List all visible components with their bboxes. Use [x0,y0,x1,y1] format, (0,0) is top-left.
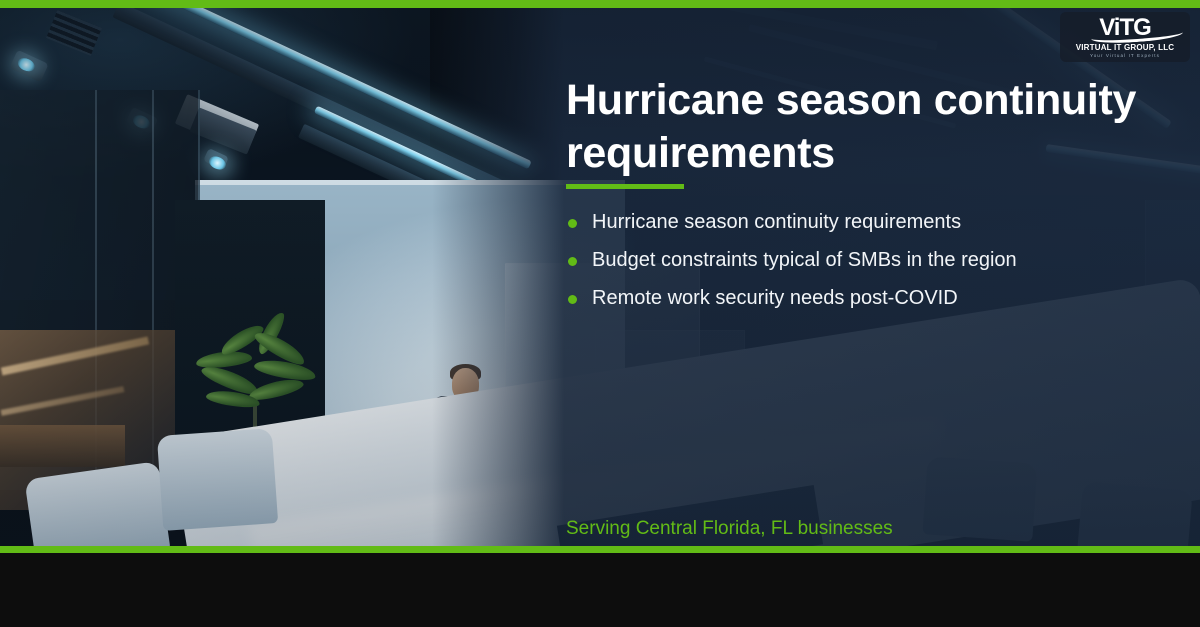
footer-bar: 813-699-0769 virtualitgroup.com [0,553,1200,627]
company-logo[interactable]: ViTG VIRTUAL IT GROUP, LLC Your Virtual … [1060,12,1190,62]
list-item-label: Hurricane season continuity requirements [592,211,961,233]
accent-rule [566,184,684,189]
page-title: Hurricane season continuity requirements [566,74,1166,180]
top-accent-bar [0,0,1200,8]
bullet-dot-icon [568,219,577,228]
list-item: Budget constraints typical of SMBs in th… [566,241,1166,279]
green-divider-bar [0,546,1200,553]
service-area-text: Serving Central Florida, FL businesses [566,518,893,540]
bullet-dot-icon [568,295,577,304]
list-item-label: Budget constraints typical of SMBs in th… [592,249,1017,271]
bullet-dot-icon [568,257,577,266]
content-column: Hurricane season continuity requirements… [566,0,1166,546]
list-item: Hurricane season continuity requirements [566,203,1166,241]
logo-wordmark: ViTG [1099,16,1151,40]
marketing-banner: ViTG VIRTUAL IT GROUP, LLC Your Virtual … [0,0,1200,627]
logo-tagline: Your Virtual IT Experts [1090,53,1160,58]
bullet-list: Hurricane season continuity requirements… [566,203,1166,317]
logo-company-name: VIRTUAL IT GROUP, LLC [1076,43,1175,52]
list-item: Remote work security needs post-COVID [566,279,1166,317]
list-item-label: Remote work security needs post-COVID [592,287,958,309]
